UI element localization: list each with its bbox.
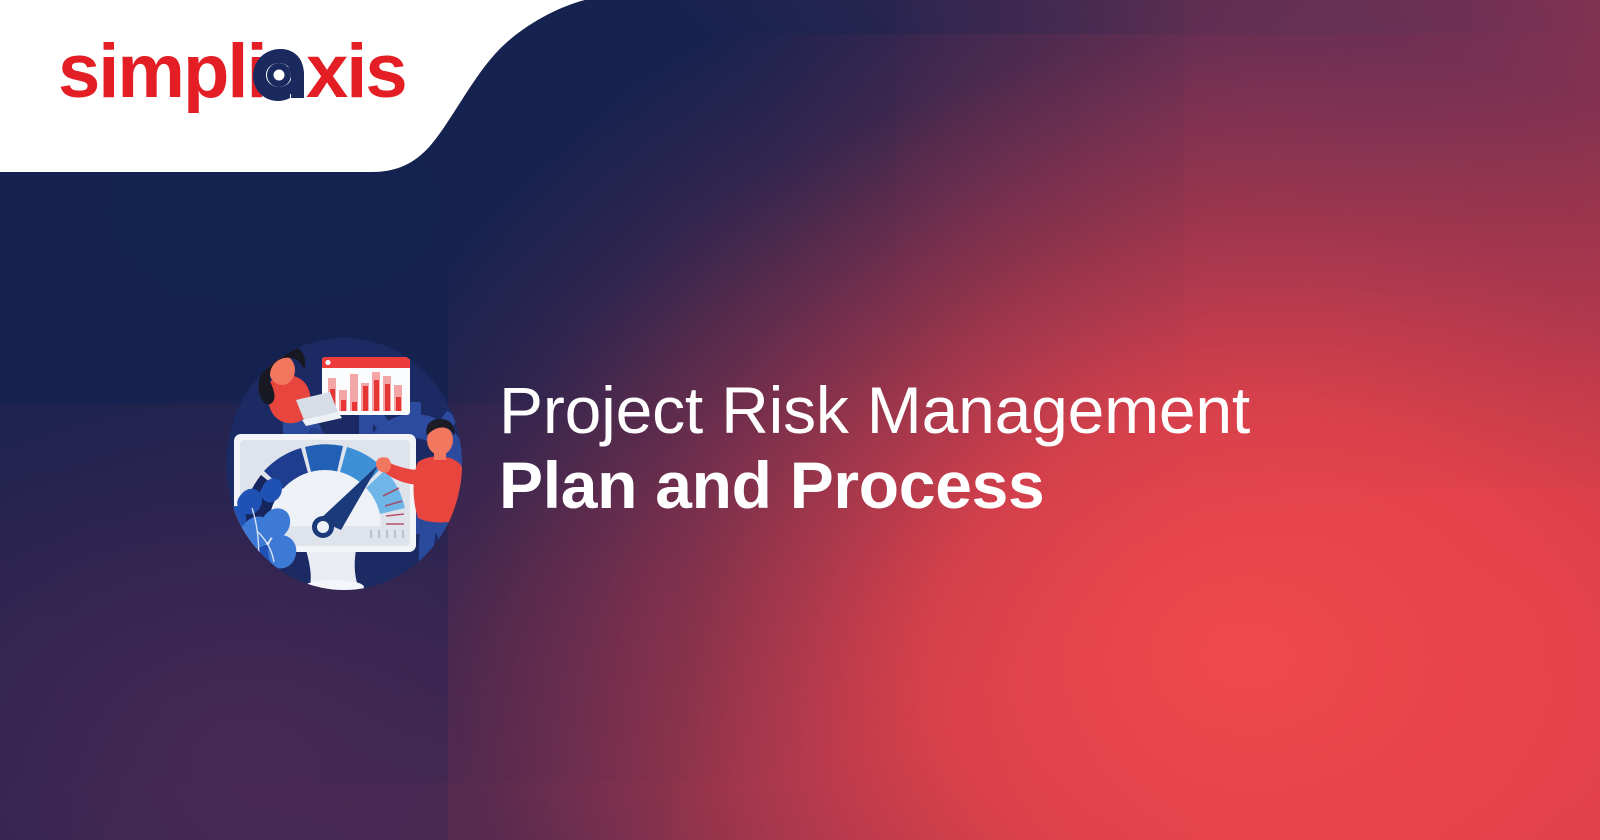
brand-text-simpli: simpli xyxy=(58,33,266,114)
svg-text:xis: xis xyxy=(306,33,406,114)
svg-text:simpli: simpli xyxy=(58,33,266,114)
banner-canvas: simpli xis xyxy=(0,0,1600,840)
page-title: Project Risk Management Plan and Process xyxy=(499,376,1399,523)
headline-line-2: Plan and Process xyxy=(499,449,1399,523)
hero-illustration xyxy=(218,336,490,604)
headline-line-1: Project Risk Management xyxy=(499,376,1399,446)
brand-logo[interactable]: simpli xis xyxy=(58,33,478,117)
brand-text-xis: xis xyxy=(306,33,406,114)
